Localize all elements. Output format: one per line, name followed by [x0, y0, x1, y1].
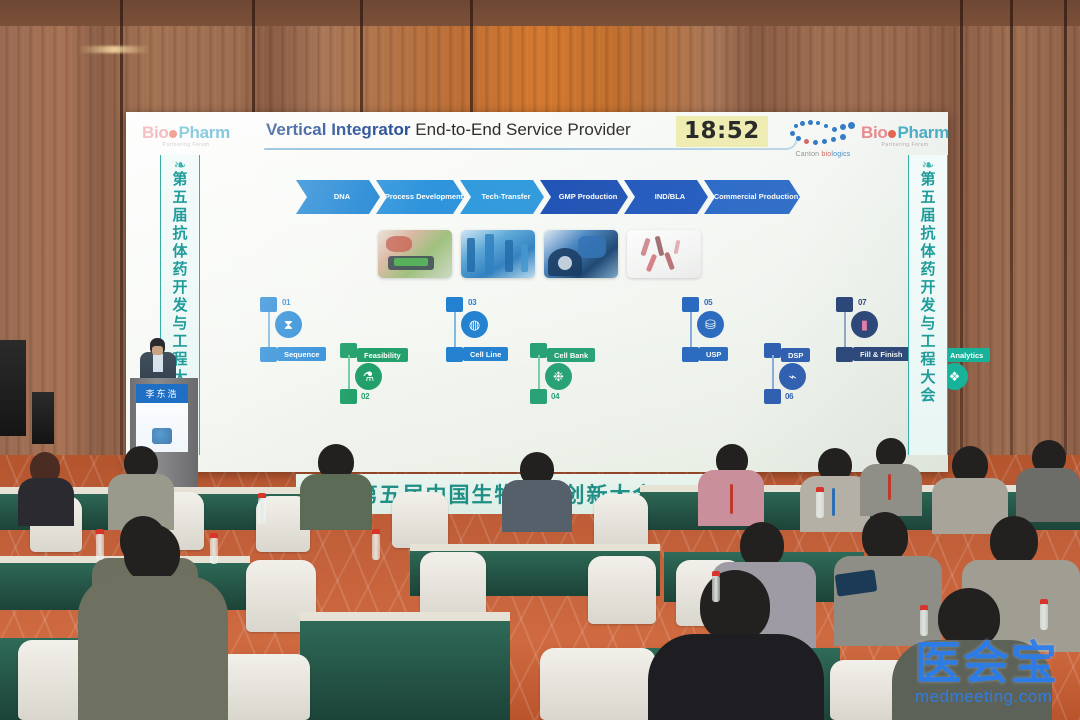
flow-step-label: Commercial Production: [714, 193, 799, 202]
timeline-marker-square: [260, 347, 277, 362]
audience-chair: [588, 556, 656, 624]
water-bottle: [372, 534, 380, 560]
flask-icon: ⚗: [355, 363, 382, 390]
banner-cloud-ornament-icon-right: ❧: [922, 161, 935, 171]
audience-chair: [392, 492, 448, 548]
flow-step-dna: DNA: [296, 180, 380, 214]
timeline-number: 06: [785, 392, 793, 401]
medmeeting-watermark: 医会宝 medmeeting.com: [915, 640, 1065, 707]
wall-seam: [120, 0, 123, 500]
biopharm-bio-text: Bio: [142, 123, 168, 142]
slide-title-regular: End-to-End Service Provider: [411, 120, 631, 139]
dna-helix-icon: ⧗: [275, 311, 302, 338]
conference-photo: BioPharm Partnering Forum Vertical Integ…: [0, 0, 1080, 720]
timeline-marker-square: [530, 389, 547, 404]
biopharm-bio-text-right: Bio: [861, 123, 887, 142]
audience-table-top: [300, 612, 510, 621]
water-bottle: [920, 610, 928, 636]
biopharm-tagline: Partnering Forum: [163, 142, 210, 148]
water-bottle-cap: [96, 529, 104, 534]
water-bottle: [96, 534, 104, 560]
photo-vials-syringes: [627, 230, 701, 278]
timeline-label-fill-finish: Fill & Finish: [853, 347, 910, 361]
timeline-marker-square: [836, 297, 853, 312]
podium-logo-mark: [152, 428, 172, 444]
timeline-number: 02: [361, 392, 369, 401]
flow-step-commercial-production: Commercial Production: [704, 180, 800, 214]
water-bottle: [1040, 604, 1048, 630]
right-banner-text: 第五届抗体药开发与工程大会: [918, 171, 939, 405]
timeline-label-usp: USP: [699, 347, 728, 361]
photo-centrifuge-equipment: [544, 230, 618, 278]
podium-sign: 李东浩: [136, 384, 188, 452]
timeline-label-feasibility: Feasibility: [357, 348, 408, 362]
chromatography-icon: ⌁: [779, 363, 806, 390]
timeline-marker-square: [446, 297, 463, 312]
flow-step-label: Process Development: [385, 193, 463, 202]
timeline-marker-square: [682, 297, 699, 312]
water-bottle-cap: [210, 533, 218, 538]
audience-chair: [594, 494, 648, 548]
wall-seam: [960, 0, 963, 500]
timeline-label-analytics: Analytics: [943, 348, 990, 362]
countdown-timer: 18:52: [676, 116, 768, 147]
water-bottle: [816, 492, 824, 518]
water-bottle-cap: [372, 529, 380, 534]
biopharm-dot-icon: [169, 130, 177, 138]
water-bottle-cap: [1040, 599, 1048, 604]
flow-step-label: DNA: [334, 193, 350, 202]
biopharm-dot-icon-right: [888, 130, 896, 138]
timeline-number: 05: [704, 298, 712, 307]
photo-bioreactor-facility: [461, 230, 535, 278]
canton-name-right: logics: [831, 151, 850, 158]
audience-table-top: [410, 544, 660, 551]
timeline-number: 04: [551, 392, 559, 401]
pa-speaker-small: [32, 392, 54, 444]
photo-pipetting-microplate: [378, 230, 452, 278]
water-bottle-cap: [816, 487, 824, 492]
vial-fill-icon: ▮: [851, 311, 878, 338]
water-bottle: [712, 576, 720, 602]
canton-name-mid: bio: [821, 151, 831, 158]
watermark-url-text: medmeeting.com: [915, 687, 1065, 707]
audience-table: [300, 618, 510, 720]
flow-step-process-development: Process Development: [376, 180, 464, 214]
cell-sphere-icon: ◍: [461, 311, 488, 338]
speaker-face: [152, 346, 163, 355]
flow-step-label: Tech-Transfer: [481, 193, 530, 202]
wall-seam: [1064, 0, 1067, 500]
bioreactor-icon: ⛁: [697, 311, 724, 338]
wall-light-strip: [78, 46, 150, 53]
right-vertical-banner: ❧ 第五届抗体药开发与工程大会: [908, 155, 948, 455]
podium-sign-subtext: [140, 408, 184, 413]
banner-cloud-ornament-icon: ❧: [174, 161, 187, 171]
flow-step-tech-transfer: Tech-Transfer: [460, 180, 544, 214]
timeline-marker-square: [764, 389, 781, 404]
timeline-number: 07: [858, 298, 866, 307]
flow-step-label: GMP Production: [559, 193, 618, 202]
ceiling-band: [0, 0, 1080, 26]
timeline-label-cell-line: Cell Line: [463, 347, 508, 361]
water-bottle: [258, 498, 266, 524]
pa-speaker: [0, 340, 26, 436]
audience-chair: [540, 648, 656, 720]
process-flow-diagram: DNA Process Development Tech-Transfer GM…: [296, 180, 816, 214]
water-bottle-cap: [712, 571, 720, 576]
podium-speaker-name: 李东浩: [136, 384, 188, 403]
timeline-label-sequence: Sequence: [277, 347, 326, 361]
title-underline: [264, 148, 784, 150]
biopharm-logo-right: BioPharm Partnering Forum: [861, 124, 949, 148]
timeline-marker-square: [260, 297, 277, 312]
cell-bank-icon: ❉: [545, 363, 572, 390]
audience-chair: [420, 552, 486, 620]
speaker-shirt: [153, 354, 163, 372]
flow-step-ind-bla: IND/BLA: [624, 180, 708, 214]
water-bottle-cap: [920, 605, 928, 610]
timeline-number: 01: [282, 298, 290, 307]
timeline-label-dsp: DSP: [781, 348, 810, 362]
photo-strip: [378, 230, 703, 278]
timeline-marker-square: [682, 347, 699, 362]
timeline-marker-square: [836, 347, 853, 362]
wall-seam: [1010, 0, 1013, 500]
timeline-number: 03: [468, 298, 476, 307]
flow-step-label: IND/BLA: [655, 193, 685, 202]
service-timeline: 01 ⧗ Sequence ⚗ 02 Feasibility 03 ◍: [244, 297, 854, 427]
water-bottle: [210, 538, 218, 564]
biopharm-pharm-text: Pharm: [178, 123, 229, 142]
timeline-marker-square: [446, 347, 463, 362]
slide-title-bold: Vertical Integrator: [266, 120, 411, 139]
canton-name-left: Canton: [796, 151, 820, 158]
watermark-chinese-text: 医会宝: [915, 640, 1065, 686]
biopharm-pharm-text-right: Pharm: [897, 123, 948, 142]
water-bottle-cap: [258, 493, 266, 498]
projection-screen: BioPharm Partnering Forum Vertical Integ…: [126, 112, 948, 472]
biopharm-tagline-right: Partnering Forum: [882, 142, 929, 148]
timeline-label-cell-bank: Cell Bank: [547, 348, 595, 362]
flow-step-gmp-production: GMP Production: [540, 180, 628, 214]
timeline-marker-square: [340, 389, 357, 404]
biopharm-logo-left: BioPharm Partnering Forum: [142, 124, 230, 148]
canton-biologics-logo: Canton biologics: [780, 118, 866, 158]
